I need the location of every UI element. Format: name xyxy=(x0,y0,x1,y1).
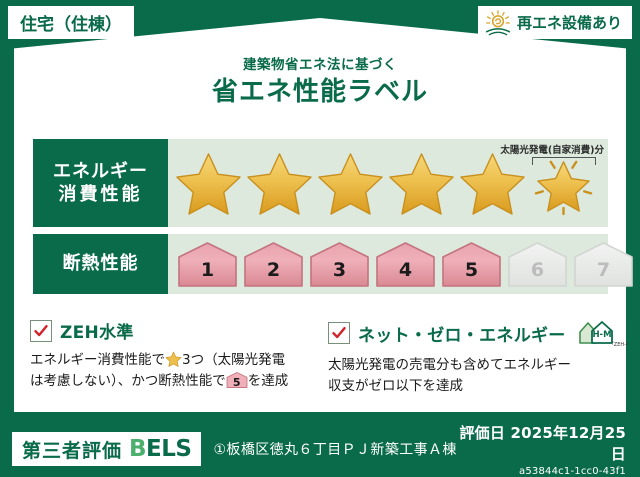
inline-insulation-house-icon: 5 xyxy=(226,371,248,389)
bels-en-label: BELS xyxy=(129,436,191,462)
bels-letter-b: B xyxy=(129,436,146,462)
star-filled-2 xyxy=(245,150,314,216)
insulation-grade-6: 6 xyxy=(506,240,569,289)
insulation-grade-7: 7 xyxy=(572,240,635,289)
evaluation-date-label: 評価日 xyxy=(459,424,505,442)
insulation-grade-5: 5 xyxy=(440,240,503,289)
nze-line2: 収支がゼロ以下を達成 xyxy=(328,378,463,394)
inline-house-value: 5 xyxy=(226,375,248,392)
evaluation-id: a53844c1-1cc0-43f1 xyxy=(457,466,626,477)
criterion-zeh: ZEH水準 エネルギー消費性能で3つ（太陽光発電は考慮しない）、かつ断熱性能で5… xyxy=(30,318,312,396)
energy-performance-row-body: 太陽光発電(自家消費)分 xyxy=(168,139,608,227)
building-type-tag: 住宅（住棟） xyxy=(8,6,134,39)
insulation-label: 断熱性能 xyxy=(63,252,139,275)
insulation-grade-1: 1 xyxy=(176,240,239,289)
solar-bracket xyxy=(532,157,596,165)
label-title-block: 建築物省エネ法に基づく 省エネ性能ラベル xyxy=(0,58,640,106)
svg-text:H-M: H-M xyxy=(592,330,611,340)
energy-performance-label: 住宅（住棟） 再エネ設備あり 建築物省エネ法に基づく 省エネ性能ラベル xyxy=(0,0,640,477)
net-zero-energy-description: 太陽光発電の売電分も含めてエネルギー収支がゼロ以下を達成 xyxy=(328,355,610,396)
insulation-grade-3-value: 3 xyxy=(308,259,371,281)
sun-over-horizon-icon xyxy=(484,10,512,36)
rating-rows: エネルギー 消費性能 xyxy=(33,139,608,301)
net-zero-energy-checkbox[interactable] xyxy=(328,322,350,344)
star-filled-5 xyxy=(458,150,527,216)
check-icon xyxy=(33,323,49,339)
zeh-title: ZEH水準 xyxy=(60,318,134,343)
inline-star-icon xyxy=(165,351,182,367)
bels-letters-els: ELS xyxy=(146,436,191,462)
energy-label-line2: 消費性能 xyxy=(59,183,143,206)
star-filled-4 xyxy=(387,150,456,216)
insulation-grade-4-value: 4 xyxy=(374,259,437,281)
footer-bar: 第三者評価 BELS ①板橋区徳丸６丁目ＰＪ新築工事Ａ棟 評価日 2025年12… xyxy=(0,421,640,477)
renewable-equipment-label: 再エネ設備あり xyxy=(517,12,622,33)
energy-performance-row: エネルギー 消費性能 xyxy=(33,139,608,227)
zeh-m-logo-icon: H-M 「ZEH-M」 xyxy=(576,318,628,348)
criterion-nze-head: ネット・ゼロ・エネルギー H-M 「ZEH-M」 xyxy=(328,318,610,348)
zeh-text-part3: を達成 xyxy=(248,373,289,389)
insulation-grade-5-value: 5 xyxy=(440,259,503,281)
energy-performance-row-label: エネルギー 消費性能 xyxy=(33,139,168,227)
insulation-grade-4: 4 xyxy=(374,240,437,289)
insulation-grade-1-value: 1 xyxy=(176,259,239,281)
evaluation-info: 評価日 2025年12月25日 a53844c1-1cc0-43f1 xyxy=(457,422,626,477)
insulation-grade-2: 2 xyxy=(242,240,305,289)
zeh-star-count: 3つ（太陽光発電 xyxy=(182,352,285,368)
bels-badge: 第三者評価 BELS xyxy=(12,432,201,466)
net-zero-energy-title: ネット・ゼロ・エネルギー xyxy=(358,321,566,346)
insulation-grade-7-value: 7 xyxy=(572,259,635,281)
zeh-checkbox[interactable] xyxy=(30,320,52,342)
insulation-performance-row-label: 断熱性能 xyxy=(33,234,168,294)
title-subtitle: 建築物省エネ法に基づく xyxy=(0,58,640,73)
energy-label-line1: エネルギー xyxy=(53,160,148,183)
insulation-performance-row: 断熱性能 1 xyxy=(33,234,608,294)
insulation-grade-scale: 1 2 3 4 xyxy=(168,240,635,289)
svg-text:「ZEH-M」: 「ZEH-M」 xyxy=(608,342,627,348)
criteria-section: ZEH水準 エネルギー消費性能で3つ（太陽光発電は考慮しない）、かつ断熱性能で5… xyxy=(30,318,610,396)
insulation-grade-2-value: 2 xyxy=(242,259,305,281)
nze-line1: 太陽光発電の売電分も含めてエネルギー xyxy=(328,357,571,373)
building-type-label: 住宅（住棟） xyxy=(20,10,122,35)
renewable-equipment-tag: 再エネ設備あり xyxy=(478,6,632,39)
criterion-zeh-head: ZEH水準 xyxy=(30,318,312,343)
insulation-performance-row-body: 1 2 3 4 xyxy=(168,234,635,294)
solar-note-label: 太陽光発電(自家消費)分 xyxy=(500,142,604,156)
star-filled-3 xyxy=(316,150,385,216)
insulation-grade-6-value: 6 xyxy=(506,259,569,281)
zeh-description: エネルギー消費性能で3つ（太陽光発電は考慮しない）、かつ断熱性能で5を達成 xyxy=(30,350,312,391)
criterion-net-zero-energy: ネット・ゼロ・エネルギー H-M 「ZEH-M」 太陽光発電の売電分も含めてエネ… xyxy=(328,318,610,396)
title-main: 省エネ性能ラベル xyxy=(0,78,640,107)
check-icon xyxy=(331,325,347,341)
evaluation-date: 評価日 2025年12月25日 xyxy=(457,422,626,464)
zeh-text-part2: は考慮しない）、かつ断熱性能で xyxy=(30,373,226,389)
star-filled-1 xyxy=(174,150,243,216)
evaluation-date-value: 2025年12月25日 xyxy=(511,424,627,463)
property-address: ①板橋区徳丸６丁目ＰＪ新築工事Ａ棟 xyxy=(213,439,456,459)
zeh-text-part1: エネルギー消費性能で xyxy=(30,352,165,368)
insulation-grade-3: 3 xyxy=(308,240,371,289)
bels-jp-label: 第三者評価 xyxy=(22,436,122,463)
